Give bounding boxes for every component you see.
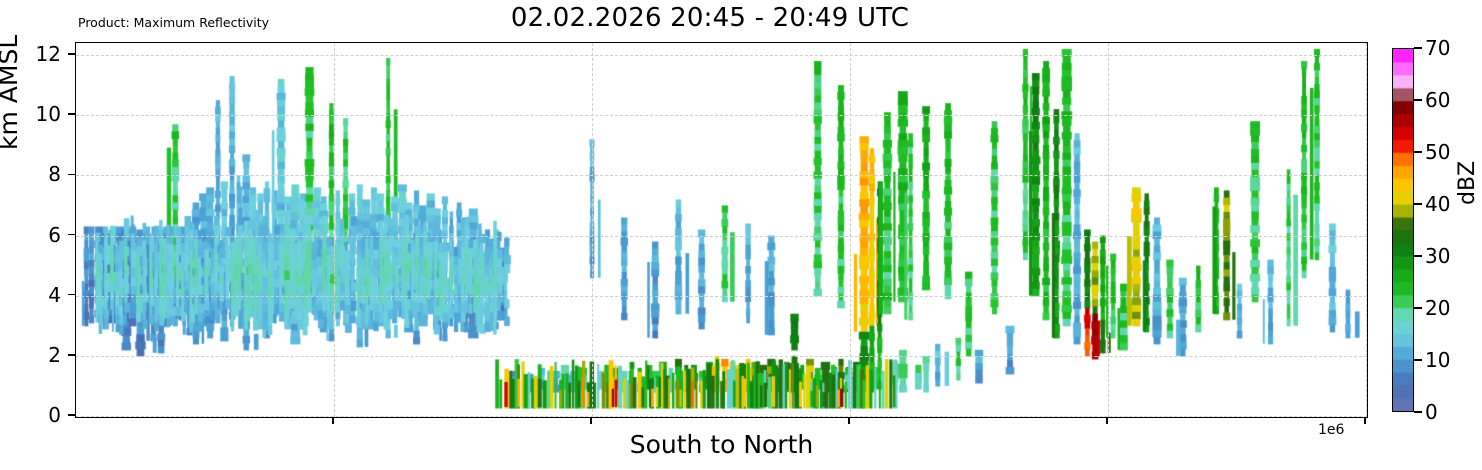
- colorbar-tick-label: 40: [1425, 194, 1450, 214]
- colorbar-tick: [1414, 307, 1422, 309]
- y-tick-label: 8: [3, 164, 61, 184]
- gridline-vertical: [1366, 43, 1368, 417]
- colorbar-tick: [1414, 203, 1422, 205]
- colorbar-gradient: [1393, 49, 1413, 411]
- y-axis-label: km AMSL: [0, 35, 23, 150]
- y-tick: [68, 113, 75, 115]
- colorbar-tick-label: 50: [1425, 142, 1450, 162]
- colorbar-tick: [1414, 151, 1422, 153]
- colorbar-tick: [1414, 411, 1422, 413]
- x-tick: [1364, 417, 1366, 424]
- y-tick: [68, 294, 75, 296]
- gridline-horizontal: [76, 55, 1367, 57]
- colorbar-tick-label: 10: [1425, 350, 1450, 370]
- colorbar-tick: [1414, 99, 1422, 101]
- y-tick: [68, 234, 75, 236]
- gridline-horizontal: [76, 175, 1367, 177]
- colorbar-tick-label: 30: [1425, 246, 1450, 266]
- y-tick-label: 6: [3, 225, 61, 245]
- colorbar-tick-label: 60: [1425, 90, 1450, 110]
- gridline-horizontal: [76, 296, 1367, 298]
- colorbar-tick-label: 20: [1425, 298, 1450, 318]
- y-tick: [68, 174, 75, 176]
- colorbar-tick: [1414, 255, 1422, 257]
- plot-area: [75, 42, 1368, 418]
- y-tick: [68, 414, 75, 416]
- y-tick: [68, 53, 75, 55]
- colorbar-tick-label: 70: [1425, 38, 1450, 58]
- gridline-horizontal: [76, 356, 1367, 358]
- gridline-vertical: [1108, 43, 1110, 417]
- gridline-horizontal: [76, 416, 1367, 418]
- gridline-horizontal: [76, 236, 1367, 238]
- reflectivity-heatmap: [76, 43, 1366, 416]
- y-tick-label: 0: [3, 405, 61, 425]
- colorbar-tick-label: 0: [1425, 402, 1438, 422]
- x-axis-offset-label: 1e6: [1318, 422, 1344, 438]
- gridline-vertical: [592, 43, 594, 417]
- radar-cross-section-figure: Product: Maximum Reflectivity 02.02.2026…: [0, 0, 1482, 470]
- x-tick: [590, 417, 592, 424]
- x-tick: [1106, 417, 1108, 424]
- x-tick: [332, 417, 334, 424]
- colorbar: [1392, 48, 1414, 412]
- gridline-horizontal: [76, 115, 1367, 117]
- y-tick-label: 4: [3, 285, 61, 305]
- x-axis-label: South to North: [75, 430, 1368, 459]
- colorbar-title: dBZ: [1455, 161, 1480, 205]
- y-tick-label: 2: [3, 345, 61, 365]
- page-title: 02.02.2026 20:45 - 20:49 UTC: [0, 3, 1420, 33]
- gridline-vertical: [850, 43, 852, 417]
- gridline-vertical: [334, 43, 336, 417]
- y-tick: [68, 354, 75, 356]
- colorbar-tick: [1414, 47, 1422, 49]
- colorbar-tick: [1414, 359, 1422, 361]
- x-tick: [848, 417, 850, 424]
